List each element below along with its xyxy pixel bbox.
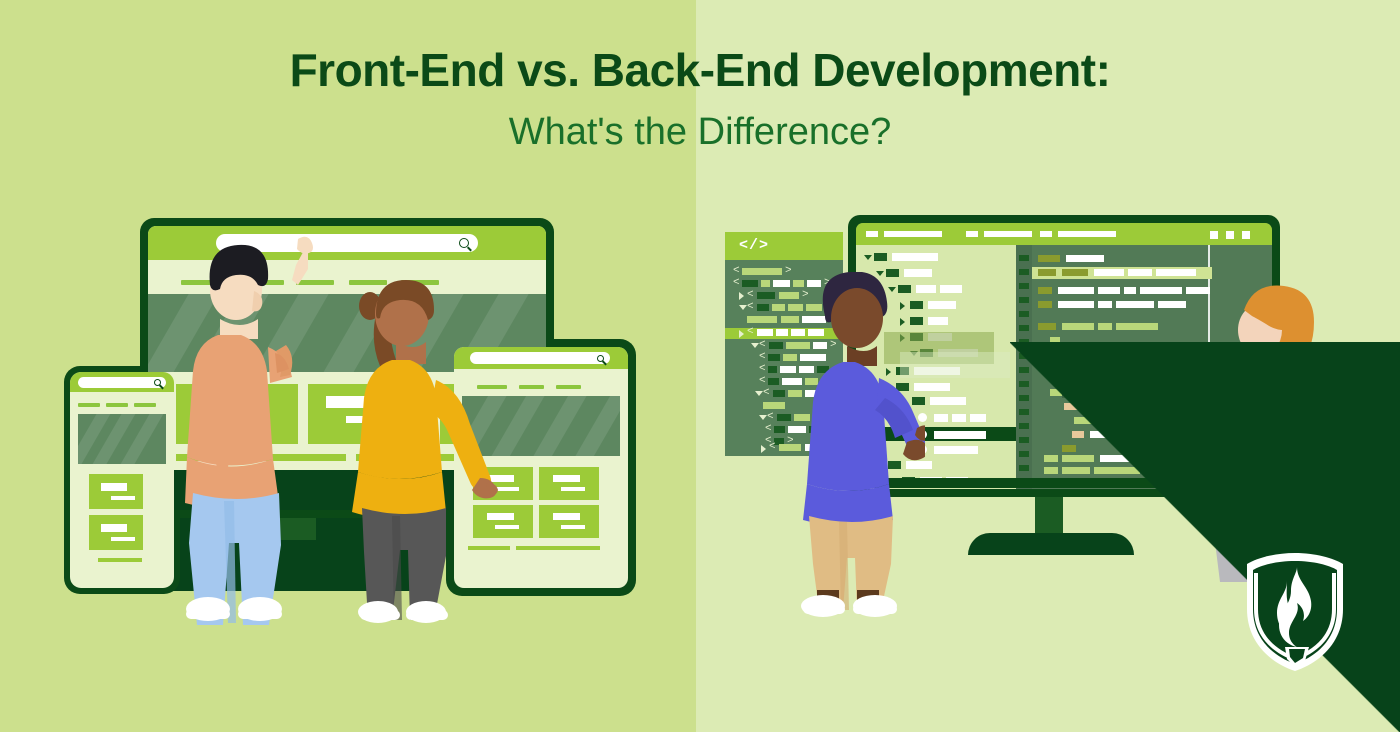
content-card[interactable] <box>539 505 599 538</box>
search-icon <box>459 238 469 248</box>
floating-code-card <box>900 352 1010 378</box>
nav-link[interactable] <box>519 385 544 389</box>
nav-link[interactable] <box>106 403 128 407</box>
person-reaching <box>340 278 500 628</box>
content-card[interactable] <box>539 467 599 500</box>
page-subtitle: What's the Difference? <box>0 111 1400 155</box>
page-title: Front-End vs. Back-End Development: <box>0 44 1400 97</box>
code-panel-header: </> <box>725 232 843 260</box>
phone-screen <box>70 372 174 588</box>
titlebar-chip <box>984 231 1032 237</box>
titlebar-chip <box>966 231 978 237</box>
person-typing <box>795 272 925 620</box>
search-icon <box>154 379 161 386</box>
nav-link[interactable] <box>134 403 156 407</box>
footer-bar <box>516 546 600 550</box>
window-dot[interactable] <box>1210 231 1218 239</box>
search-icon <box>597 355 604 362</box>
footer-bar <box>98 558 142 562</box>
content-card[interactable] <box>89 515 143 550</box>
hero-image-placeholder <box>78 414 166 464</box>
titlebar-chip <box>866 231 878 237</box>
university-shield-logo <box>1243 551 1347 673</box>
person-pointing <box>180 235 340 625</box>
titlebar-chip <box>1058 231 1116 237</box>
titlebar-chip <box>1040 231 1052 237</box>
window-dot[interactable] <box>1242 231 1250 239</box>
content-card[interactable] <box>89 474 143 509</box>
corner-triangle <box>1010 342 1400 732</box>
banner-canvas: Front-End vs. Back-End Development: What… <box>0 0 1400 732</box>
window-dot[interactable] <box>1226 231 1234 239</box>
nav-link[interactable] <box>556 385 581 389</box>
search-input[interactable] <box>78 377 166 388</box>
titlebar-chip <box>884 231 942 237</box>
title-block: Front-End vs. Back-End Development: What… <box>0 44 1400 155</box>
nav-link[interactable] <box>78 403 100 407</box>
code-glyph: </> <box>739 237 769 254</box>
